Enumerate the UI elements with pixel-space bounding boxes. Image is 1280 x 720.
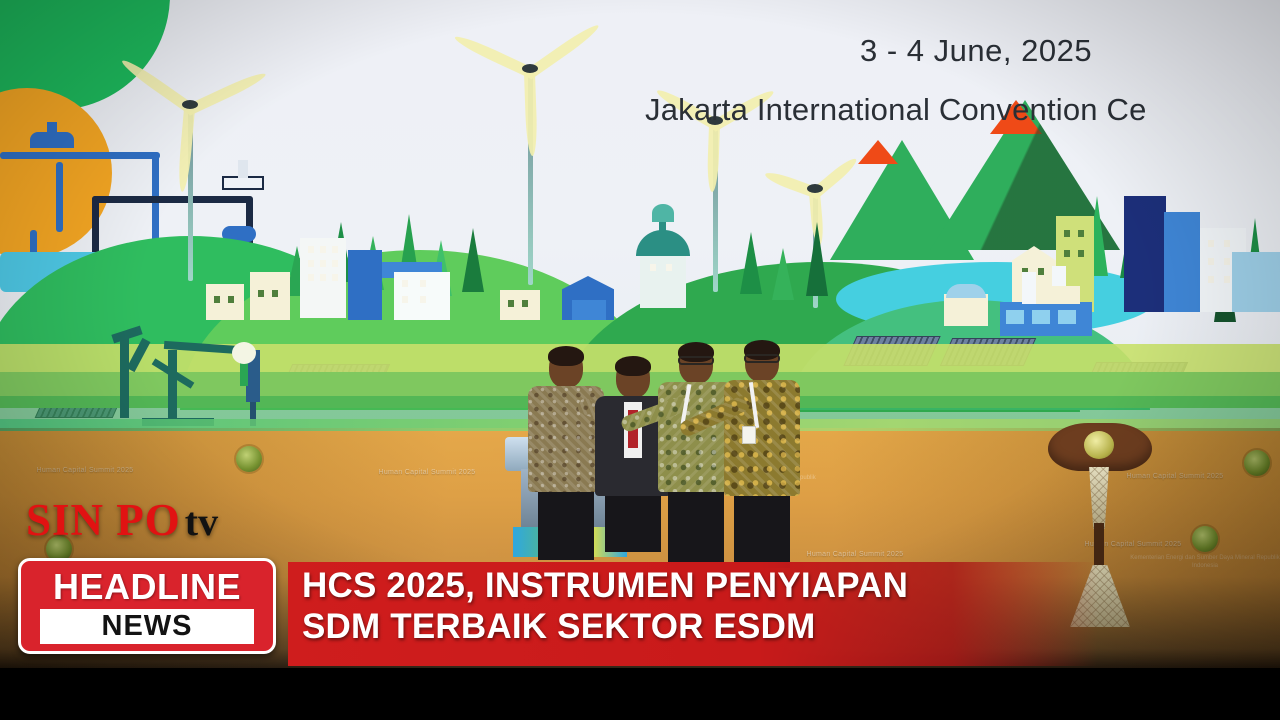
wind-turbine-icon <box>470 48 590 298</box>
stage-watermark-text: Human Capital Summit 2025 <box>20 466 150 475</box>
lower-third: HEADLINE NEWS HCS 2025, INSTRUMEN PENYIA… <box>0 556 1280 668</box>
eyeglasses-icon <box>744 354 780 363</box>
ministry-seal-icon <box>1244 450 1270 476</box>
id-badge <box>742 426 756 444</box>
badge-news-bar: NEWS <box>40 609 254 644</box>
wind-turbine-icon <box>130 84 250 294</box>
tree-icon <box>772 248 794 300</box>
eyeglasses-icon <box>678 356 714 365</box>
tree-icon <box>740 232 762 294</box>
watermark-suffix: tv <box>185 499 218 544</box>
official-person <box>712 342 812 568</box>
oil-pumpjack-icon <box>120 330 280 430</box>
tree-icon <box>232 342 256 364</box>
news-screenshot: 3 - 4 June, 2025 Jakarta International C… <box>0 0 1280 720</box>
stage-watermark-text: Human Capital Summit 2025 <box>362 468 492 477</box>
ministry-seal-icon <box>236 446 262 472</box>
badge-headline-label: HEADLINE <box>53 569 241 605</box>
tree-icon <box>462 228 484 292</box>
event-venue-text: Jakarta International Convention Ce <box>645 92 1147 128</box>
channel-watermark: SIN POtv <box>26 498 218 543</box>
headline-line-2: SDM TERBAIK SEKTOR ESDM <box>302 607 1092 648</box>
bottom-black-bar <box>0 668 1280 720</box>
event-date-text: 3 - 4 June, 2025 <box>860 33 1092 69</box>
headline-text: HCS 2025, INSTRUMEN PENYIAPAN SDM TERBAI… <box>302 566 1092 647</box>
headline-news-badge: HEADLINE NEWS <box>18 558 276 654</box>
watermark-brand: SIN PO <box>26 495 181 545</box>
ministry-seal-icon <box>1192 526 1218 552</box>
headline-line-1: HCS 2025, INSTRUMEN PENYIAPAN <box>302 566 1092 607</box>
video-frame: 3 - 4 June, 2025 Jakarta International C… <box>0 0 1280 668</box>
badge-news-label: NEWS <box>102 612 193 641</box>
tree-icon <box>806 222 828 296</box>
